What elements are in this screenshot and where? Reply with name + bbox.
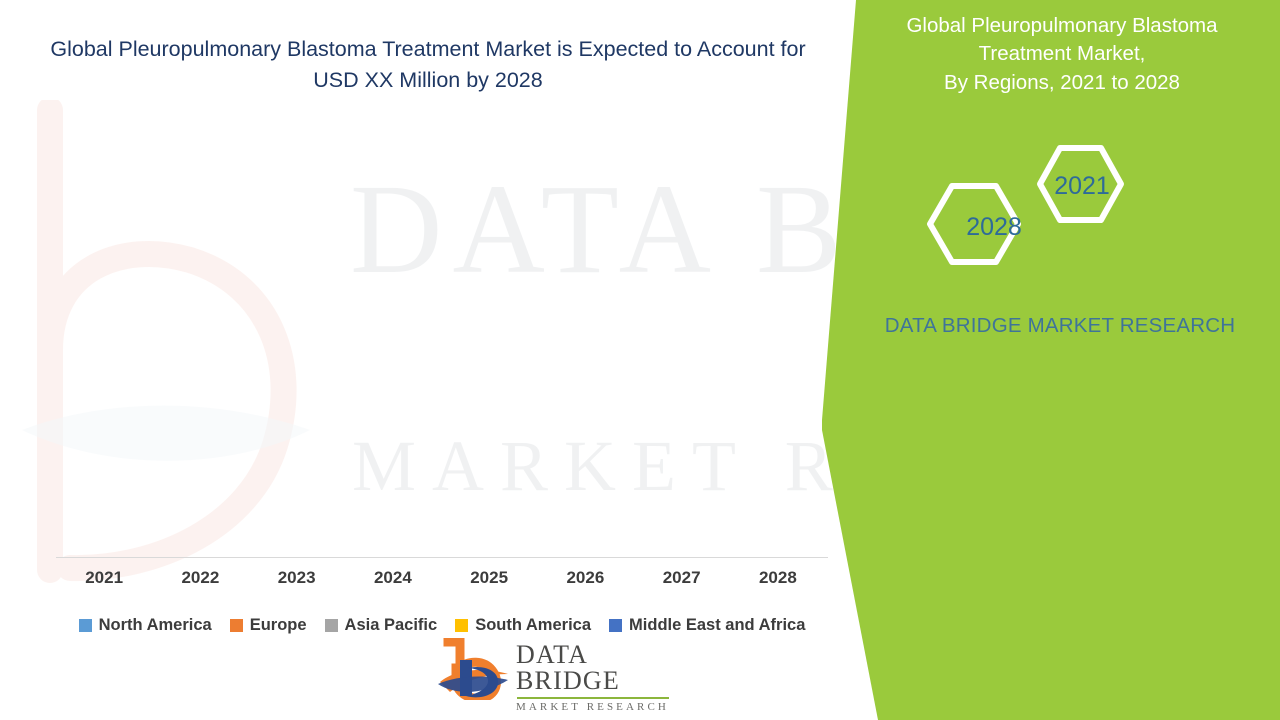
x-axis-line <box>56 557 828 558</box>
legend-label: North America <box>99 616 212 635</box>
legend-swatch-icon <box>230 619 243 632</box>
legend-label: South America <box>475 616 591 635</box>
hexagon-2028-label: 2028 <box>966 213 1022 241</box>
hexagon-2021-label: 2021 <box>1054 172 1110 200</box>
bar-column-2025[interactable] <box>441 160 537 558</box>
legend-label: Middle East and Africa <box>629 616 805 635</box>
bar-column-2022[interactable] <box>152 160 248 558</box>
legend-item-europe[interactable]: Europe <box>230 616 307 635</box>
legend-swatch-icon <box>79 619 92 632</box>
legend-swatch-icon <box>455 619 468 632</box>
green-panel-title-line: Global Pleuropulmonary Blastoma Treatmen… <box>862 12 1262 69</box>
bar-column-2021[interactable] <box>56 160 152 558</box>
legend-swatch-icon <box>609 619 622 632</box>
green-panel-title-line: By Regions, 2021 to 2028 <box>862 69 1262 97</box>
brand-name-text: DATA BRIDGE MARKET RESEARCH <box>820 310 1280 341</box>
x-axis-label-2028: 2028 <box>730 568 826 588</box>
legend-item-south-america[interactable]: South America <box>455 616 591 635</box>
chart-panel: Global Pleuropulmonary Blastoma Treatmen… <box>0 0 860 720</box>
x-axis-label-2023: 2023 <box>249 568 345 588</box>
bar-chart-plot-area <box>56 160 826 558</box>
legend-swatch-icon <box>325 619 338 632</box>
bar-column-2024[interactable] <box>345 160 441 558</box>
x-axis-labels: 20212022202320242025202620272028 <box>56 568 826 588</box>
x-axis-label-2024: 2024 <box>345 568 441 588</box>
bar-column-2026[interactable] <box>537 160 633 558</box>
x-axis-label-2026: 2026 <box>537 568 633 588</box>
bar-column-2027[interactable] <box>634 160 730 558</box>
x-axis-label-2025: 2025 <box>441 568 537 588</box>
right-green-panel: Global Pleuropulmonary Blastoma Treatmen… <box>820 0 1280 720</box>
legend-item-asia-pacific[interactable]: Asia Pacific <box>325 616 438 635</box>
chart-legend: North AmericaEuropeAsia PacificSouth Ame… <box>56 616 828 635</box>
legend-label: Asia Pacific <box>345 616 438 635</box>
slide-root: DATA BRIDGE MARKET RESEARCH Global Pleur… <box>0 0 1280 720</box>
legend-item-north-america[interactable]: North America <box>79 616 212 635</box>
green-panel-title: Global Pleuropulmonary Blastoma Treatmen… <box>820 12 1280 97</box>
bar-column-2028[interactable] <box>730 160 826 558</box>
page-title: Global Pleuropulmonary Blastoma Treatmen… <box>48 34 808 95</box>
legend-label: Europe <box>250 616 307 635</box>
x-axis-label-2021: 2021 <box>56 568 152 588</box>
x-axis-label-2022: 2022 <box>152 568 248 588</box>
x-axis-label-2027: 2027 <box>634 568 730 588</box>
bar-column-2023[interactable] <box>249 160 345 558</box>
legend-item-middle-east-and-africa[interactable]: Middle East and Africa <box>609 616 805 635</box>
hexagons-svg: 2028 2021 <box>820 140 1280 290</box>
hexagon-group: 2028 2021 <box>820 140 1280 290</box>
